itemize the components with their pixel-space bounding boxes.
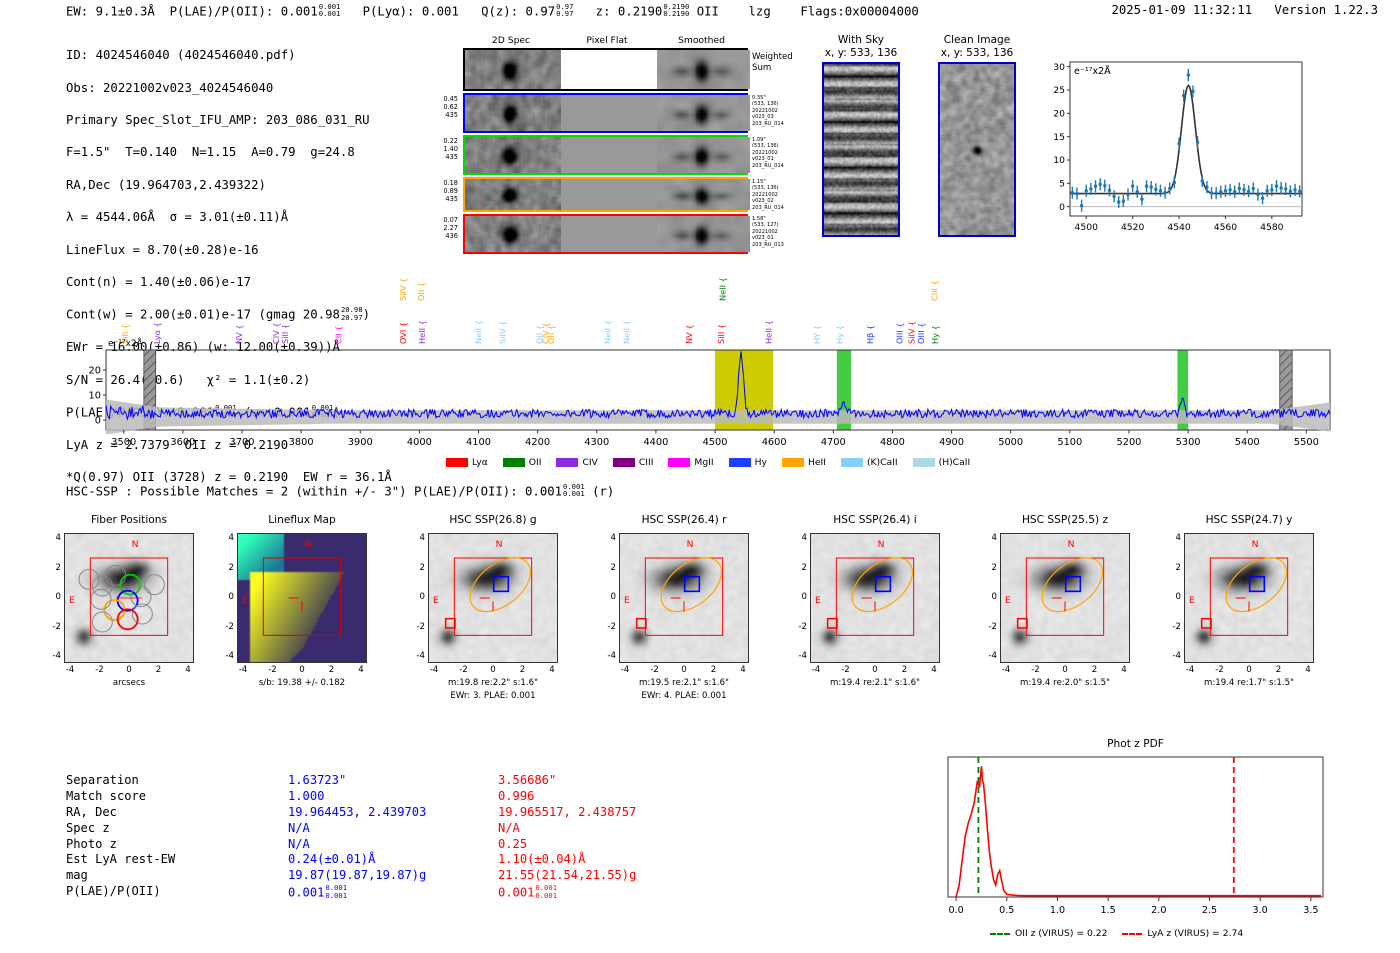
row-blue-2: 19.964453, 2.439703	[288, 805, 426, 821]
svg-text:4900: 4900	[939, 437, 964, 448]
panel-frame-1	[237, 533, 367, 663]
info-line-wavelength: λ = 4544.06Å σ = 3.01(±0.11)Å	[66, 209, 392, 225]
svg-text:HeII {: HeII {	[764, 320, 774, 344]
legend-item-oii: OII	[503, 457, 542, 468]
full-spectrum-svg: 0102035003600370038003900400041004200430…	[66, 272, 1332, 467]
panel-xtick-6-4: 4	[1296, 665, 1320, 675]
spec2d-smoothed-3	[657, 179, 750, 210]
compass-east-3: E	[624, 595, 630, 606]
phot-legend-dash-0	[990, 933, 1010, 935]
svg-text:3.0: 3.0	[1253, 905, 1268, 916]
row-red-5: 1.10(±0.04)Å	[498, 852, 585, 868]
panel-ytick-2-3: -2	[411, 622, 425, 632]
svg-text:4580: 4580	[1260, 222, 1284, 233]
line-label-cii-5: CII {	[334, 326, 344, 344]
line-label-oii-7: OII {	[416, 282, 426, 301]
panel-xtick-5-4: 4	[1112, 665, 1136, 675]
row-red-0: 3.56686"	[498, 773, 556, 789]
line-label-neii-16: NeII {	[622, 320, 632, 344]
header-z-label: z:	[596, 4, 611, 18]
header-meta: 2025-01-09 11:32:11 Version 1.22.3	[1111, 3, 1378, 17]
header-z-value: 0.2190	[618, 4, 662, 18]
svg-text:0: 0	[1059, 202, 1065, 213]
panel-ytick-2-0: 4	[411, 533, 425, 543]
header-ew: EW: 9.1±0.3Å	[66, 4, 155, 18]
svg-text:4200: 4200	[525, 437, 550, 448]
info-line-spec-slot: Primary Spec_Slot_IFU_AMP: 203_086_031_R…	[66, 112, 392, 128]
svg-text:NV {: NV {	[234, 324, 244, 344]
row-red-1: 0.996	[498, 789, 534, 805]
panel-overlay-5	[1001, 534, 1129, 662]
spec2d-smoothed-2	[657, 137, 750, 173]
svg-text:1.5: 1.5	[1101, 905, 1116, 916]
panel-title-3: HSC SSP(26.4) r	[601, 514, 767, 526]
spectrum-legend: LyαOIICIVCIIIMgIIHyHeII(K)CaII(H)CaII	[446, 450, 985, 469]
svg-text:3900: 3900	[348, 437, 373, 448]
spec2d-column-title-2: Smoothed	[655, 35, 748, 46]
svg-text:OIII {: OIII {	[895, 322, 905, 344]
panel-ytick-6-3: -2	[1167, 622, 1181, 632]
svg-text:OII {: OII {	[416, 282, 426, 301]
phot-z-pdf-svg: Phot z PDF0.00.51.01.52.02.53.03.5	[930, 733, 1335, 943]
line-label-ovi-8: OVI {	[398, 322, 408, 344]
svg-text:NeII {: NeII {	[622, 320, 632, 344]
svg-text:Hβ {: Hβ {	[865, 325, 875, 344]
panel-overlay-6	[1185, 534, 1313, 662]
legend-label-5: Hy	[755, 457, 767, 468]
panel-frame-2	[428, 533, 558, 663]
panel-title-1: Lineflux Map	[219, 514, 385, 526]
line-label-neii-19: NeII {	[717, 277, 727, 301]
svg-text:Hy {: Hy {	[834, 325, 844, 344]
panel-title-2: HSC SSP(26.8) g	[410, 514, 576, 526]
panel-xtick-6-0: -4	[1178, 665, 1202, 675]
row-blue-plae: 0.0010.0010.001	[288, 884, 347, 901]
svg-text:CII {: CII {	[334, 326, 344, 344]
panel-xtick-4-4: 4	[922, 665, 946, 675]
panel-overlay-3	[620, 534, 748, 662]
spec2d-row-4	[463, 214, 748, 254]
spec2d-row-values-1: 0.45 0.62 435	[418, 95, 458, 120]
hsc-match-header: HSC-SSP : Possible Matches = 2 (within +…	[66, 483, 614, 498]
row-key-1: Match score	[66, 789, 146, 805]
line-label-hy-28: Hy {	[930, 325, 940, 344]
panel-frame-3	[619, 533, 749, 663]
legend-swatch-2	[556, 458, 578, 467]
svg-text:5500: 5500	[1294, 437, 1319, 448]
compass-east-1: E	[242, 595, 248, 606]
panel-ytick-1-0: 4	[220, 533, 234, 543]
compass-east-0: E	[69, 595, 75, 606]
panel-ytick-1-3: -2	[220, 622, 234, 632]
line-label-nv-2: NV {	[234, 324, 244, 344]
legend-item-lyα: Lyα	[446, 457, 488, 468]
panel-ytick-6-2: 0	[1167, 592, 1181, 602]
svg-text:4100: 4100	[466, 437, 491, 448]
line-label-siii-18: SiII {	[716, 324, 726, 344]
panel-xtick-4-1: -2	[834, 665, 858, 675]
spec2d-2dspec-1	[465, 95, 561, 131]
spec2d-smoothed-4	[657, 216, 750, 252]
svg-text:OVI {: OVI {	[398, 322, 408, 344]
svg-text:SiIV {: SiIV {	[398, 278, 408, 301]
svg-text:4700: 4700	[821, 437, 846, 448]
panel-ytick-1-2: 0	[220, 592, 234, 602]
spec2d-row-meta-4: 1.58" (533, 127) 20221002 v023_01 203_RU…	[752, 216, 784, 248]
line-label-nv-17: NV {	[684, 324, 694, 344]
header-flags: Flags:0x00004000	[800, 4, 918, 18]
legend-swatch-7	[841, 458, 863, 467]
svg-text:5: 5	[1059, 179, 1065, 190]
compass-east-6: E	[1189, 595, 1195, 606]
header-classification: lzg	[749, 4, 771, 18]
panel-xtick-1-3: 2	[320, 665, 344, 675]
panel-caption2-2: EWr: 3. PLAE: 0.001	[410, 691, 576, 701]
svg-text:NeII {: NeII {	[474, 320, 484, 344]
compass-east-2: E	[433, 595, 439, 606]
panel-ytick-4-2: 0	[793, 592, 807, 602]
spec2d-row-1	[463, 93, 748, 133]
panel-xtick-5-2: 0	[1053, 665, 1077, 675]
panel-xtick-2-0: -4	[422, 665, 446, 675]
compass-east-5: E	[1005, 595, 1011, 606]
svg-text:CIII {: CIII {	[930, 280, 940, 301]
svg-text:5200: 5200	[1116, 437, 1141, 448]
svg-text:0: 0	[95, 415, 101, 426]
row-blue-5: 0.24(±0.01)Å	[288, 852, 375, 868]
panel-title-6: HSC SSP(24.7) y	[1166, 514, 1332, 526]
svg-text:NeII {: NeII {	[603, 320, 613, 344]
line-label-oiii-24: OIII {	[895, 322, 905, 344]
header-qz-value: 0.97	[526, 4, 556, 18]
panel-xtick-6-3: 2	[1267, 665, 1291, 675]
line-label-neii-15: NeII {	[603, 320, 613, 344]
compass-north-3: N	[687, 539, 694, 550]
panel-xtick-1-1: -2	[261, 665, 285, 675]
row-key-plae: P(LAE)/P(OII)	[66, 884, 161, 900]
panel-xtick-2-4: 4	[540, 665, 564, 675]
header-qz-label: Q(z):	[481, 4, 518, 18]
legend-swatch-5	[729, 458, 751, 467]
line-label-oii-14: OII {	[546, 325, 556, 344]
svg-text:SiII {: SiII {	[716, 324, 726, 344]
panel-xtick-1-0: -4	[231, 665, 255, 675]
phot-legend-item-1: LyA z (VIRUS) = 2.74	[1122, 928, 1243, 939]
panel-title-5: HSC SSP(25.5) z	[982, 514, 1148, 526]
svg-text:20: 20	[1053, 109, 1065, 120]
row-key-6: mag	[66, 868, 88, 884]
header-summary-line: EW: 9.1±0.3Å P(LAE)/P(OII): 0.0010.0010.…	[66, 3, 919, 18]
panel-ytick-3-4: -4	[602, 651, 616, 661]
compass-north-6: N	[1252, 539, 1259, 550]
row-red-6: 21.55(21.54,21.55)g	[498, 868, 636, 884]
svg-text:5100: 5100	[1057, 437, 1082, 448]
panel-xtick-4-3: 2	[893, 665, 917, 675]
spec2d-row-meta-1: 0.35" (533, 136) 20221002 v023_03 203_RU…	[752, 95, 784, 127]
svg-text:4300: 4300	[584, 437, 609, 448]
row-key-4: Photo z	[66, 837, 117, 853]
panel-ytick-4-4: -4	[793, 651, 807, 661]
panel-xtick-0-0: -4	[58, 665, 82, 675]
spec2d-pixelflat-3	[561, 179, 657, 210]
panel-ytick-3-0: 4	[602, 533, 616, 543]
legend-label-6: HeII	[808, 457, 826, 468]
line-label-heii-9: HeII {	[417, 320, 427, 344]
phot-legend-label-1: LyA z (VIRUS) = 2.74	[1147, 928, 1243, 939]
panel-xtick-2-3: 2	[511, 665, 535, 675]
header-version: Version 1.22.3	[1274, 3, 1378, 17]
row-red-plae: 0.0010.0010.001	[498, 884, 557, 901]
sky-panel-image-0	[822, 62, 900, 237]
svg-text:Hy {: Hy {	[930, 325, 940, 344]
panel-ytick-6-4: -4	[1167, 651, 1181, 661]
svg-text:30: 30	[1053, 62, 1065, 73]
panel-ytick-5-2: 0	[983, 592, 997, 602]
header-plae-range: 0.0010.001	[319, 3, 341, 18]
panel-ytick-2-4: -4	[411, 651, 425, 661]
svg-text:4560: 4560	[1214, 222, 1238, 233]
panel-caption1-6: m:19.4 re:1.7" s:1.5"	[1166, 678, 1332, 688]
panel-xtick-3-1: -2	[643, 665, 667, 675]
legend-label-3: CIII	[639, 457, 654, 468]
panel-axis-label: arcsecs	[64, 678, 194, 688]
panel-frame-5	[1000, 533, 1130, 663]
spec2d-column-title-0: 2D Spec	[463, 35, 559, 46]
panel-caption1-4: m:19.4 re:2.1" s:1.6"	[792, 678, 958, 688]
svg-text:3800: 3800	[289, 437, 314, 448]
legend-swatch-0	[446, 458, 468, 467]
header-qz-range: 0.970.97	[556, 3, 573, 18]
panel-xtick-6-2: 0	[1237, 665, 1261, 675]
panel-xtick-3-4: 4	[731, 665, 755, 675]
line-label-oiii-26: OIII {	[916, 322, 926, 344]
panel-caption1-1: s/b: 19.38 +/- 0.182	[219, 678, 385, 688]
header-plya: P(Lyα): 0.001	[363, 4, 459, 18]
spec2d-2dspec-3	[465, 179, 561, 210]
panel-ytick-3-1: 2	[602, 563, 616, 573]
svg-text:5300: 5300	[1176, 437, 1201, 448]
svg-text:NeII {: NeII {	[717, 277, 727, 301]
panel-overlay-1	[238, 534, 366, 662]
svg-text:SiIV {: SiIV {	[497, 321, 507, 344]
panel-overlay-2	[429, 534, 557, 662]
svg-text:OIII {: OIII {	[916, 322, 926, 344]
sky-panel-image-1	[938, 62, 1016, 237]
line-label-siiv-6: SiIV {	[398, 278, 408, 301]
spec2d-2dspec-4	[465, 216, 561, 252]
line-label-siii-4: SiII {	[280, 324, 290, 344]
phot-legend-label-0: OII z (VIRUS) = 0.22	[1015, 928, 1107, 939]
svg-text:2.0: 2.0	[1151, 905, 1166, 916]
line-label-siiv-11: SiIV {	[497, 321, 507, 344]
panel-xtick-0-3: 2	[147, 665, 171, 675]
svg-text:4400: 4400	[643, 437, 668, 448]
panel-ytick-4-1: 2	[793, 563, 807, 573]
panel-xtick-1-2: 0	[290, 665, 314, 675]
line-label-hy-21: HY {	[812, 325, 822, 344]
spec2d-column-title-1: Pixel Flat	[559, 35, 655, 46]
panel-xtick-0-2: 0	[117, 665, 141, 675]
hsc-header-text: HSC-SSP : Possible Matches = 2 (within +…	[66, 484, 562, 498]
panel-ytick-3-3: -2	[602, 622, 616, 632]
spec2d-pixelflat-2	[561, 137, 657, 173]
spec2d-row-values-2: 0.22 1.40 435	[418, 137, 458, 162]
header-plae-value: 0.001	[281, 4, 318, 18]
svg-text:Lyα {: Lyα {	[152, 322, 162, 344]
svg-text:e⁻¹⁷x2Å: e⁻¹⁷x2Å	[1074, 65, 1111, 77]
legend-swatch-3	[613, 458, 635, 467]
svg-text:5000: 5000	[998, 437, 1023, 448]
svg-text:HY {: HY {	[812, 325, 822, 344]
panel-caption1-5: m:19.4 re:2.0" s:1.5"	[982, 678, 1148, 688]
panel-xtick-5-1: -2	[1024, 665, 1048, 675]
panel-ytick-2-2: 0	[411, 592, 425, 602]
panel-xtick-2-1: -2	[452, 665, 476, 675]
legend-label-7: (K)CaII	[867, 457, 898, 468]
svg-text:4540: 4540	[1167, 222, 1191, 233]
legend-label-8: (H)CaII	[939, 457, 971, 468]
svg-text:4600: 4600	[762, 437, 787, 448]
svg-text:3600: 3600	[170, 437, 195, 448]
legend-item-ciii: CIII	[613, 457, 654, 468]
info-line-id: ID: 4024546040 (4024546040.pdf)	[66, 47, 392, 63]
panel-ytick-5-0: 4	[983, 533, 997, 543]
panel-ytick-5-3: -2	[983, 622, 997, 632]
panel-title-4: HSC SSP(26.4) i	[792, 514, 958, 526]
panel-xtick-2-2: 0	[481, 665, 505, 675]
line-profile-svg: 05101520253045004520454045604580e⁻¹⁷x2Å	[1038, 56, 1306, 246]
svg-text:10: 10	[89, 390, 101, 401]
line-label-siii-0: SiII {	[120, 324, 130, 344]
spec2d-row-0	[463, 48, 748, 91]
svg-text:NV {: NV {	[684, 324, 694, 344]
svg-text:4500: 4500	[1075, 222, 1099, 233]
row-blue-1: 1.000	[288, 789, 324, 805]
spec2d-2dspec-0	[465, 50, 561, 89]
spec2d-smoothed-0	[657, 50, 750, 89]
spec2d-weighted-sum-label: Weighted Sum	[752, 52, 793, 73]
panel-xtick-0-1: -2	[88, 665, 112, 675]
panel-ytick-5-4: -4	[983, 651, 997, 661]
spec2d-row-values-4: 0.07 2.27 436	[418, 216, 458, 241]
row-blue-4: N/A	[288, 837, 310, 853]
panel-xtick-3-3: 2	[702, 665, 726, 675]
compass-north-4: N	[878, 539, 885, 550]
panel-xtick-6-1: -2	[1208, 665, 1232, 675]
row-blue-6: 19.87(19.87,19.87)g	[288, 868, 426, 884]
spec2d-pixelflat-1	[561, 95, 657, 131]
sky-panel-coords-1: x, y: 533, 136	[923, 47, 1031, 59]
legend-label-0: Lyα	[472, 457, 488, 468]
svg-text:SiII {: SiII {	[280, 324, 290, 344]
panel-xtick-3-2: 0	[672, 665, 696, 675]
panel-ytick-0-4: -4	[47, 651, 61, 661]
svg-text:5400: 5400	[1235, 437, 1260, 448]
panel-caption1-3: m:19.5 re:2.1" s:1.6"	[601, 678, 767, 688]
spec2d-pixelflat-4	[561, 216, 657, 252]
svg-text:20: 20	[89, 365, 101, 376]
row-red-3: N/A	[498, 821, 520, 837]
info-line-seeing: F=1.5" T=0.140 N=1.15 A=0.79 g=24.8	[66, 144, 392, 160]
line-label-neii-10: NeII {	[474, 320, 484, 344]
spec2d-pixelflat-0	[561, 50, 657, 89]
compass-north-5: N	[1068, 539, 1075, 550]
panel-ytick-2-1: 2	[411, 563, 425, 573]
svg-text:0.0: 0.0	[948, 905, 963, 916]
svg-text:10: 10	[1053, 155, 1065, 166]
panel-overlay-0	[65, 534, 193, 662]
panel-frame-4	[810, 533, 940, 663]
row-red-2: 19.965517, 2.438757	[498, 805, 636, 821]
svg-text:3500: 3500	[111, 437, 136, 448]
legend-label-2: CIV	[582, 457, 597, 468]
panel-ytick-6-1: 2	[1167, 563, 1181, 573]
svg-text:3.5: 3.5	[1303, 905, 1318, 916]
info-line-obs: Obs: 20221002v023_4024546040	[66, 80, 392, 96]
panel-caption2-3: EWr: 4. PLAE: 0.001	[601, 691, 767, 701]
panel-ytick-0-3: -2	[47, 622, 61, 632]
row-blue-0: 1.63723"	[288, 773, 346, 789]
row-blue-3: N/A	[288, 821, 310, 837]
spec2d-smoothed-1	[657, 95, 750, 131]
legend-swatch-8	[913, 458, 935, 467]
panel-xtick-5-3: 2	[1083, 665, 1107, 675]
svg-text:4500: 4500	[703, 437, 728, 448]
panel-xtick-4-0: -4	[804, 665, 828, 675]
legend-label-1: OII	[529, 457, 542, 468]
header-z-range: 0.21900.2190	[663, 3, 689, 18]
panel-ytick-0-2: 0	[47, 592, 61, 602]
spec2d-row-3	[463, 177, 748, 212]
line-label-ciii-27: CIII {	[930, 280, 940, 301]
legend-item-hcaii: (H)CaII	[913, 457, 971, 468]
panel-ytick-3-2: 0	[602, 592, 616, 602]
sky-panel-title-0: With Sky	[807, 34, 915, 46]
panel-xtick-1-4: 4	[349, 665, 373, 675]
panel-xtick-5-0: -4	[994, 665, 1018, 675]
legend-item-hy: Hy	[729, 457, 767, 468]
spec2d-row-meta-3: 1.15" (533, 136) 20221002 v023_02 203_RU…	[752, 179, 784, 211]
sky-panel-coords-0: x, y: 533, 136	[807, 47, 915, 59]
compass-north-1: N	[305, 539, 312, 550]
row-key-0: Separation	[66, 773, 139, 789]
spec2d-2dspec-2	[465, 137, 561, 173]
svg-text:Phot z PDF: Phot z PDF	[1107, 738, 1164, 750]
panel-ytick-0-0: 4	[47, 533, 61, 543]
compass-east-4: E	[815, 595, 821, 606]
panel-title-0: Fiber Positions	[46, 514, 212, 526]
spec2d-row-2	[463, 135, 748, 175]
legend-item-mgii: MgII	[668, 457, 713, 468]
svg-text:15: 15	[1053, 132, 1065, 143]
panel-ytick-6-0: 4	[1167, 533, 1181, 543]
legend-item-kcaii: (K)CaII	[841, 457, 898, 468]
header-timestamp: 2025-01-09 11:32:11	[1111, 3, 1252, 17]
panel-ytick-4-3: -2	[793, 622, 807, 632]
phot-legend-item-0: OII z (VIRUS) = 0.22	[990, 928, 1107, 939]
panel-ytick-0-1: 2	[47, 563, 61, 573]
legend-item-civ: CIV	[556, 457, 597, 468]
compass-north-0: N	[132, 539, 139, 550]
legend-label-4: MgII	[694, 457, 713, 468]
panel-xtick-0-4: 4	[176, 665, 200, 675]
legend-item-heii: HeII	[782, 457, 826, 468]
row-key-3: Spec z	[66, 821, 110, 837]
row-key-2: RA, Dec	[66, 805, 117, 821]
phot-z-legend: OII z (VIRUS) = 0.22LyA z (VIRUS) = 2.74	[990, 921, 1258, 940]
line-label-hy-22: Hy {	[834, 325, 844, 344]
legend-swatch-1	[503, 458, 525, 467]
